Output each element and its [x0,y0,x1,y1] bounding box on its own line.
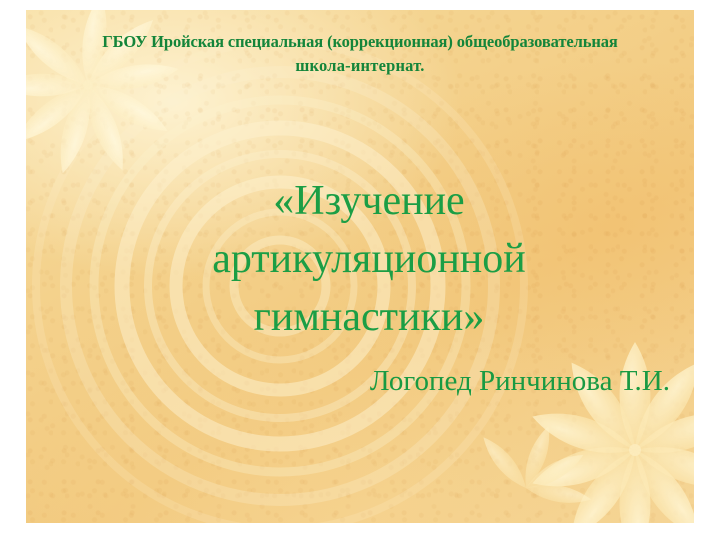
presentation-slide: ГБОУ Иройская специальная (коррекционная… [0,0,720,540]
slide-header: ГБОУ Иройская специальная (коррекционная… [56,30,664,78]
title-line-1: «Изучение [144,172,594,230]
slide-subtitle: Логопед Ринчинова Т.И. [176,363,694,399]
title-line-2: артикуляционной [144,230,594,288]
slide-title: «Изучение артикуляционной гимнастики» [144,172,594,346]
header-line-1: ГБОУ Иройская специальная (коррекционная… [56,30,664,54]
title-line-3: гимнастики» [144,288,594,346]
slide-canvas: ГБОУ Иройская специальная (коррекционная… [26,10,694,523]
author-credit: Логопед Ринчинова Т.И. [176,363,670,399]
header-line-2: школа-интернат. [56,54,664,78]
